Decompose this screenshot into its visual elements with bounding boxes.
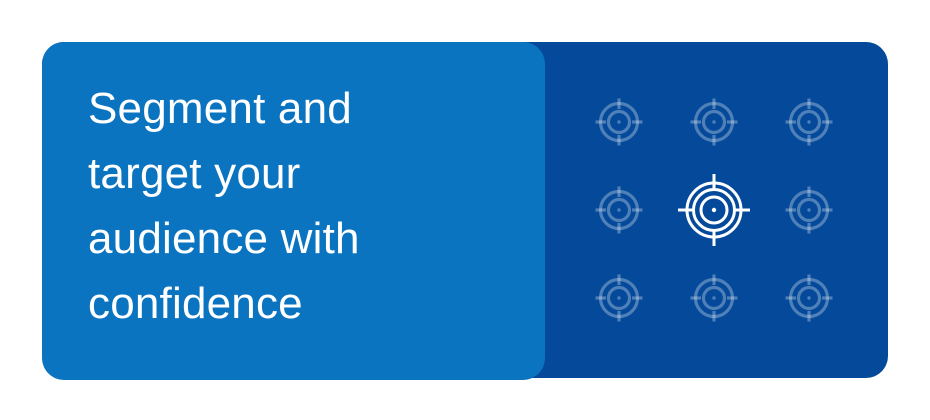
crosshair-target-icon [783, 272, 835, 324]
crosshair-target-icon [593, 272, 645, 324]
target-icon-2 [670, 78, 758, 166]
target-icon-6 [765, 166, 853, 254]
target-icon-8 [670, 254, 758, 342]
crosshair-target-icon [783, 184, 835, 236]
targeting-grid [572, 78, 856, 342]
crosshair-target-icon [675, 171, 753, 249]
target-icon-9 [765, 254, 853, 342]
crosshair-target-icon [783, 96, 835, 148]
crosshair-target-icon [688, 272, 740, 324]
target-icon-4 [575, 166, 663, 254]
crosshair-target-icon [593, 96, 645, 148]
target-icon-1 [575, 78, 663, 166]
promo-banner: Segment and target your audience with co… [0, 0, 930, 420]
crosshair-target-icon [593, 184, 645, 236]
target-icon-3 [765, 78, 853, 166]
page-title: Segment and target your audience with co… [88, 76, 488, 336]
crosshair-target-icon [688, 96, 740, 148]
target-icon-active [670, 166, 758, 254]
target-icon-7 [575, 254, 663, 342]
